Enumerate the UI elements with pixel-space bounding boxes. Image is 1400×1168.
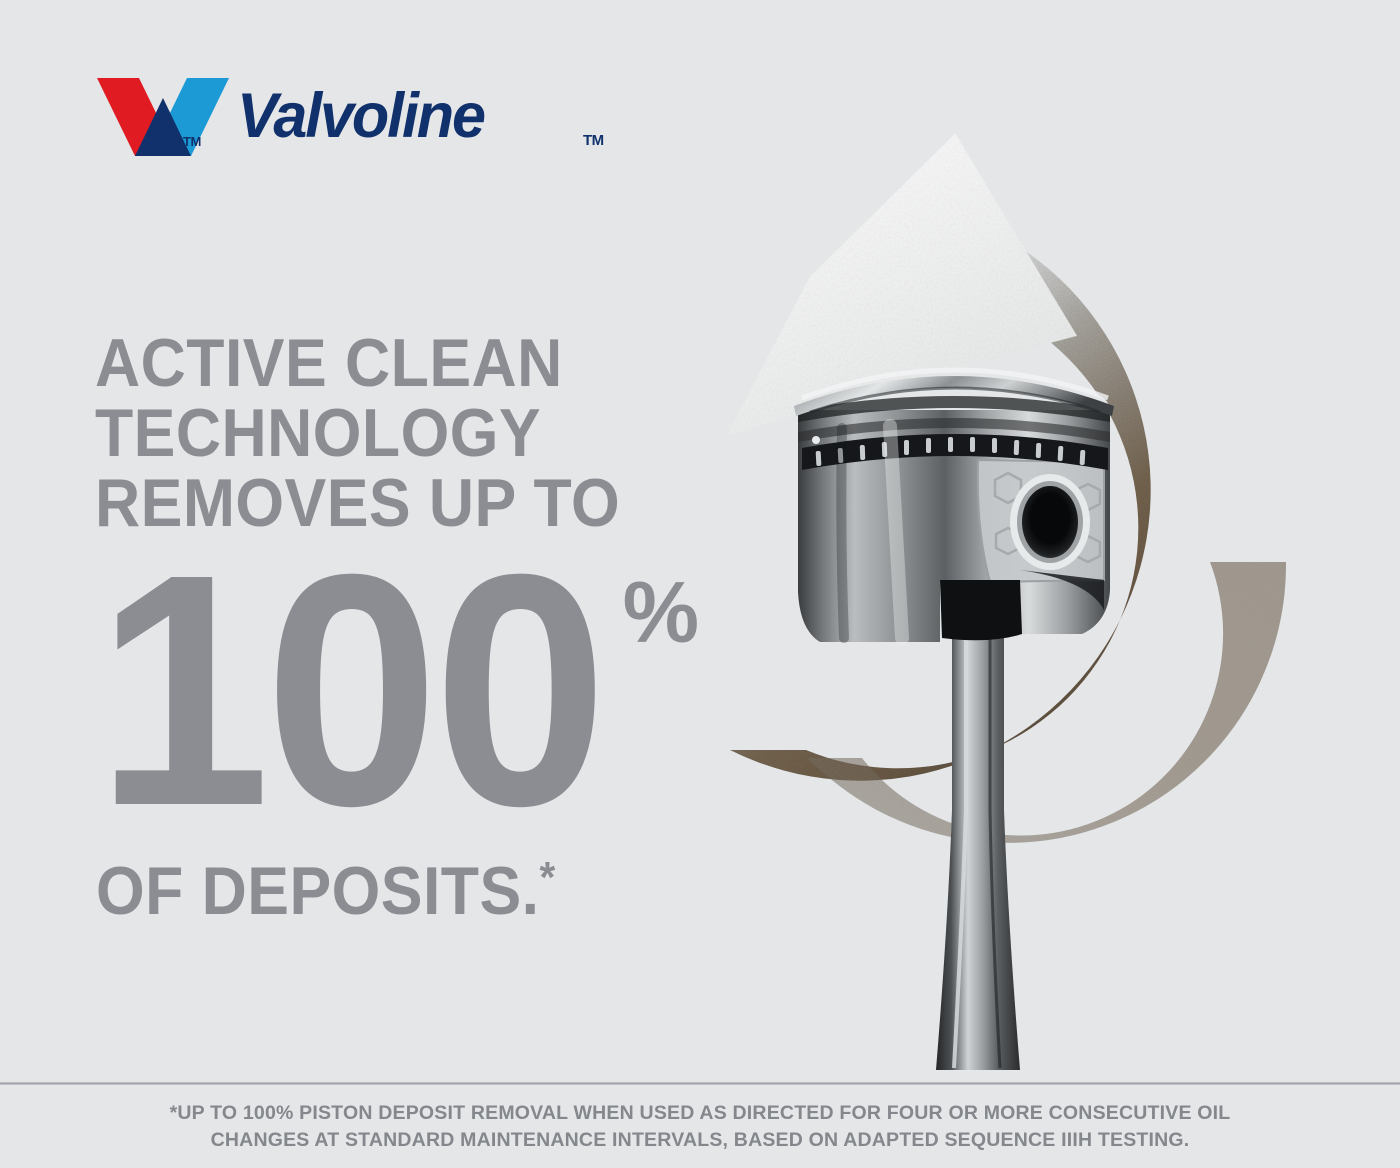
wordmark-tm: TM bbox=[583, 132, 604, 149]
footnote-line-1: *UP TO 100% PISTON DEPOSIT REMOVAL WHEN … bbox=[70, 1100, 1330, 1127]
footer-divider bbox=[0, 1082, 1400, 1085]
valvoline-wordmark: Valvoline bbox=[237, 81, 484, 151]
headline-line-2: TECHNOLOGY bbox=[95, 398, 647, 468]
engine-piston bbox=[794, 370, 1114, 642]
footnote-block: *UP TO 100% PISTON DEPOSIT REMOVAL WHEN … bbox=[70, 1100, 1330, 1154]
closing-text: OF DEPOSITS. bbox=[96, 853, 540, 929]
valvoline-active-clean-ad: TM Valvoline TM bbox=[0, 0, 1400, 1168]
big-number-block: 100 % bbox=[96, 540, 699, 840]
big-number-100: 100 bbox=[96, 540, 602, 840]
footnote-line-2: CHANGES AT STANDARD MAINTENANCE INTERVAL… bbox=[70, 1127, 1330, 1154]
piston-cleaning-artwork bbox=[690, 110, 1380, 1070]
wrist-pin-bore bbox=[1022, 486, 1078, 558]
valvoline-v-mark-icon: TM bbox=[97, 76, 229, 158]
headline-closing-line: OF DEPOSITS.* bbox=[96, 843, 556, 926]
v-mark-tm: TM bbox=[183, 134, 201, 149]
valvoline-logo[interactable]: TM Valvoline TM bbox=[97, 76, 527, 168]
footnote-asterisk: * bbox=[540, 853, 556, 902]
headline-line-1: ACTIVE CLEAN bbox=[95, 328, 647, 398]
percent-symbol: % bbox=[623, 570, 699, 656]
